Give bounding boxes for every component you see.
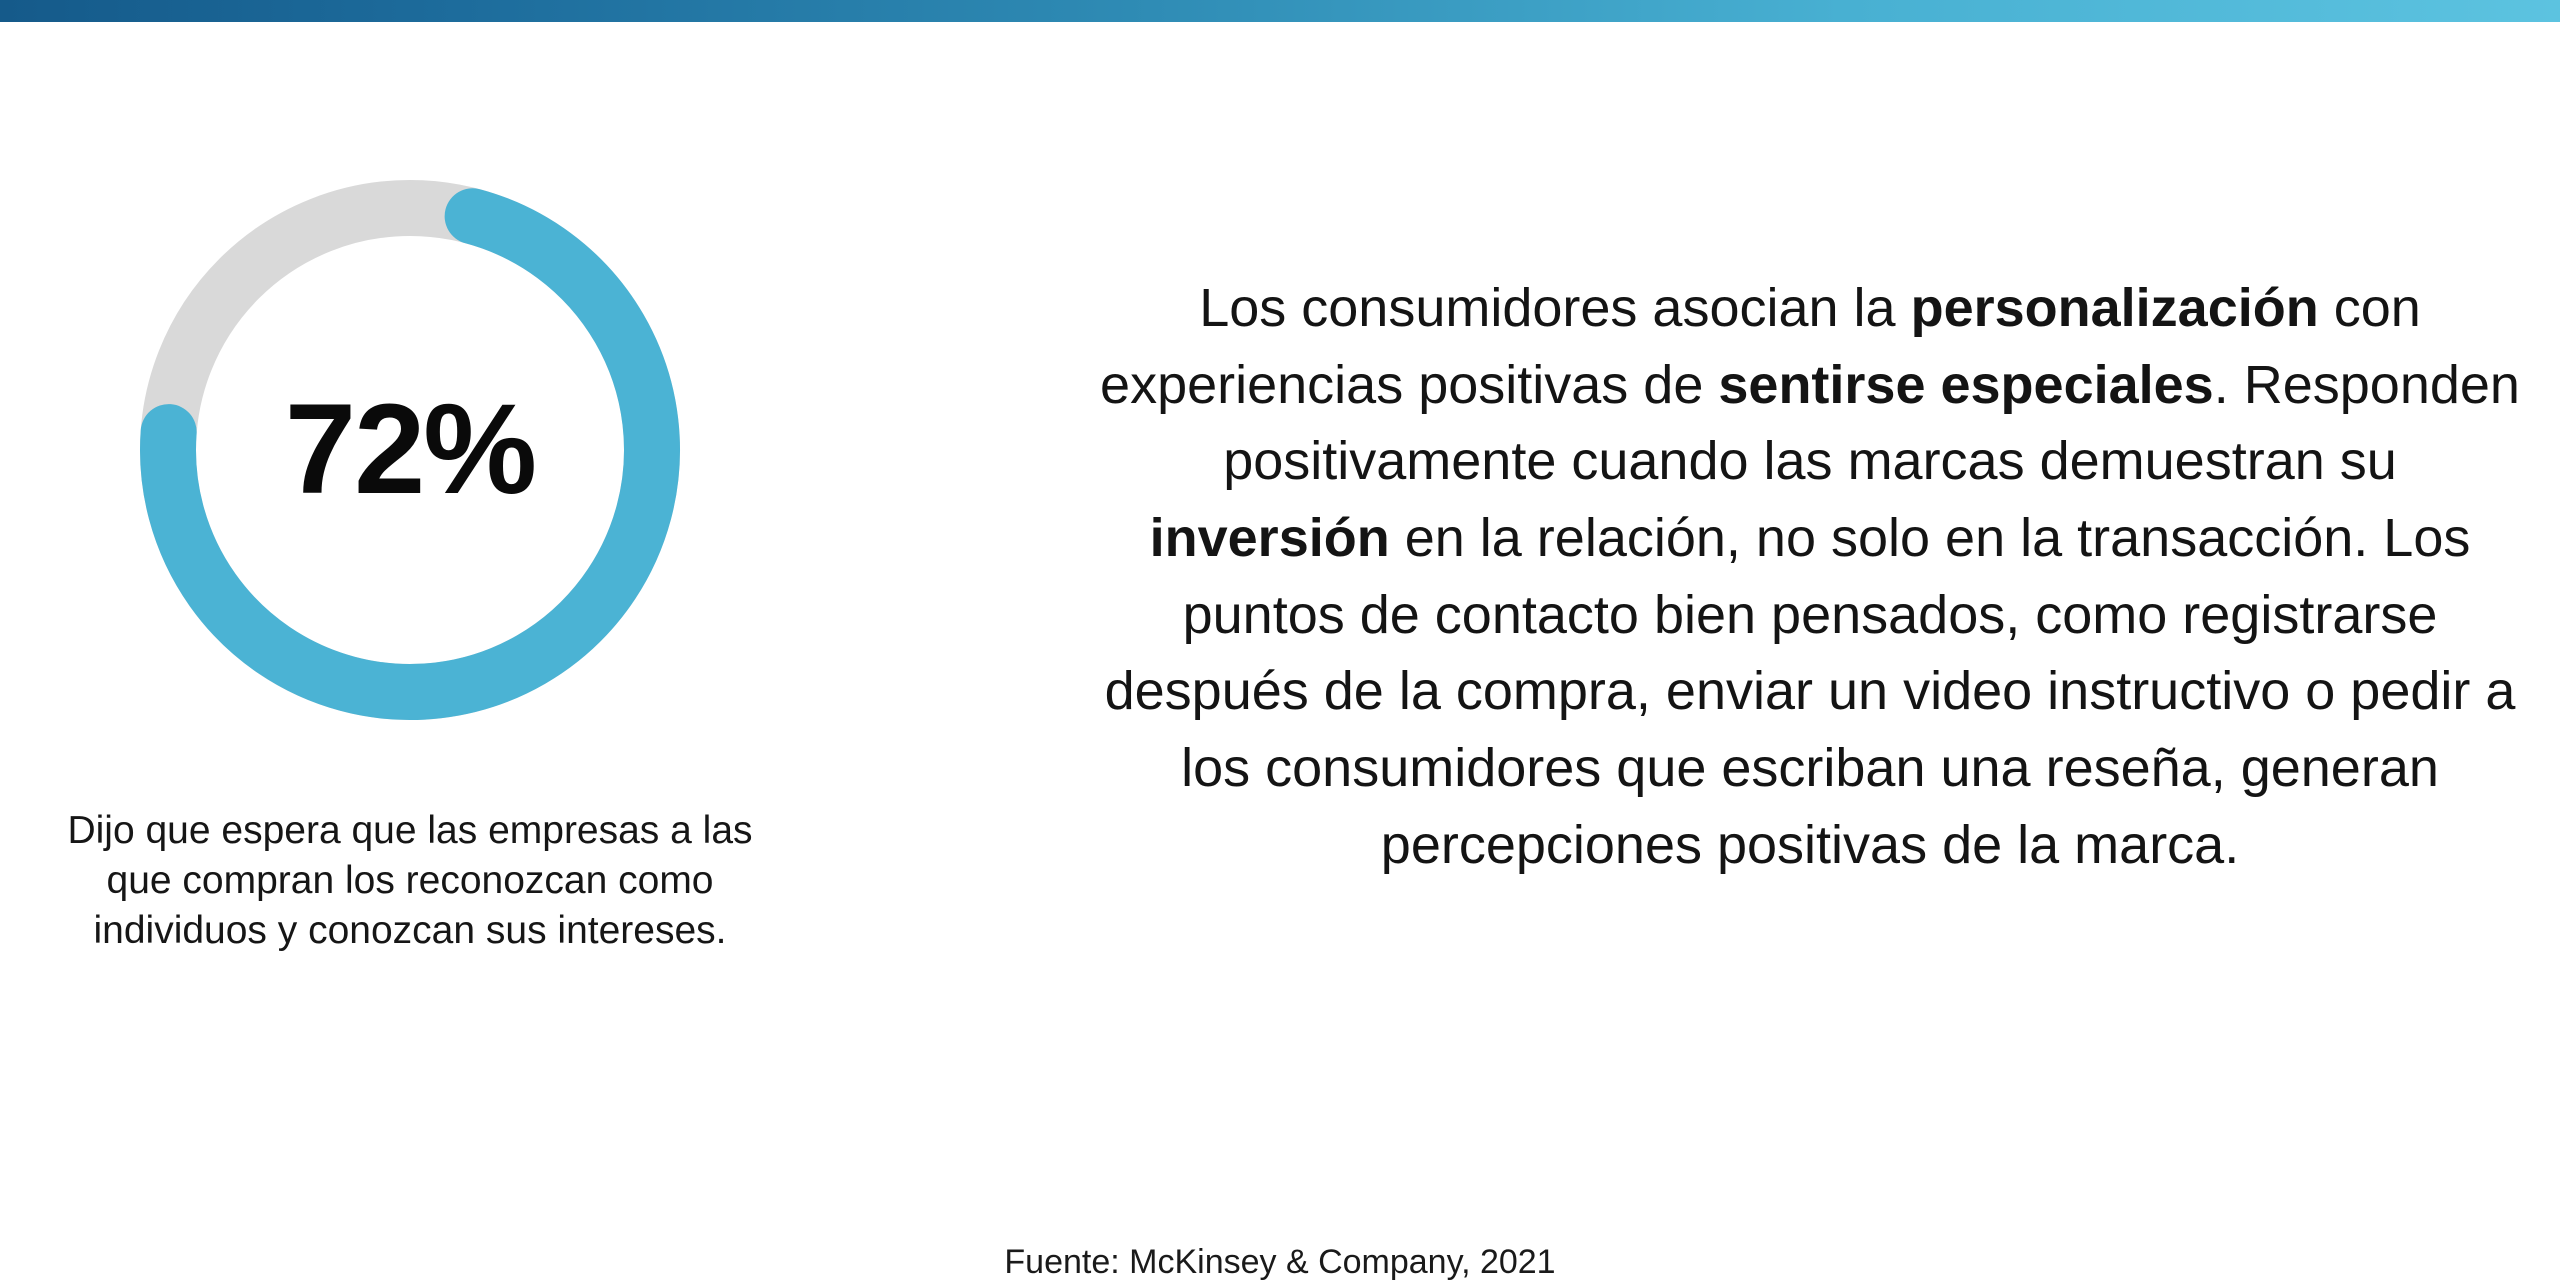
body-column: Los consumidores asocian la personalizac… [1100, 270, 2520, 883]
body-run: Los consumidores asocian la [1199, 278, 1910, 338]
body-paragraph: Los consumidores asocian la personalizac… [1100, 270, 2520, 883]
stat-column: 72% Dijo que espera que las empresas a l… [70, 120, 860, 956]
body-emphasis: inversión [1150, 508, 1390, 568]
slide-canvas: 72% Dijo que espera que las empresas a l… [0, 0, 2560, 1280]
source-citation: Fuente: McKinsey & Company, 2021 [0, 1244, 2560, 1280]
body-emphasis: personalización [1911, 278, 2319, 338]
donut-chart: 72% [80, 120, 740, 780]
donut-center-value: 72% [80, 120, 740, 780]
body-emphasis: sentirse especiales [1718, 355, 2213, 415]
stat-caption: Dijo que espera que las empresas a las q… [40, 806, 780, 956]
header-gradient-band [0, 0, 2560, 22]
